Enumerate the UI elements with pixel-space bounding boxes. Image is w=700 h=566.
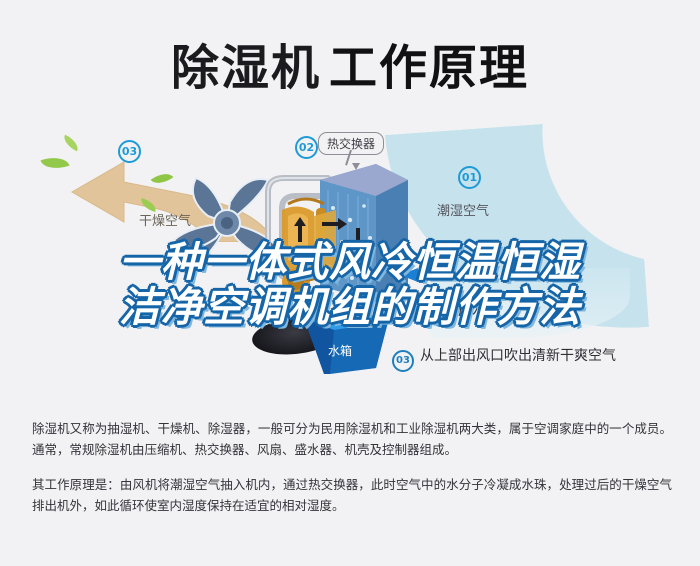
article-paragraph-1: 除湿机又称为抽湿机、干燥机、除湿器，一般可分为民用除湿机和工业除湿机两大类，属于…	[32, 418, 672, 460]
title-segment-principle: 工作原理	[329, 28, 529, 98]
article-body: 除湿机又称为抽湿机、干燥机、除湿器，一般可分为民用除湿机和工业除湿机两大类，属于…	[32, 418, 672, 516]
callout-tip-icon	[352, 163, 360, 170]
article-paragraph-2: 其工作原理是：由风机将潮湿空气抽入机内，通过热交换器，此时空气中的水分子冷凝成水…	[32, 474, 672, 516]
step-number-03: 03	[392, 350, 414, 372]
step-text-02: 成水珠	[458, 303, 500, 319]
page-root: 除湿机 工作原理	[0, 0, 700, 566]
step-number-02: 02	[430, 305, 452, 327]
diagram-badge-01: 01	[458, 166, 481, 189]
page-title: 除湿机 工作原理	[0, 18, 700, 108]
step-text-03: 从上部出风口吹出清新干爽空气	[420, 348, 616, 364]
step-caption-03: 03从上部出风口吹出清新干爽空气	[392, 345, 616, 372]
diagram-badge-02: 02	[295, 136, 318, 159]
diagram-badge-03: 03	[118, 140, 141, 163]
step-caption-02: 02成水珠	[430, 300, 500, 327]
label-humid-air: 潮湿空气	[437, 200, 489, 219]
label-water-tank: 水箱	[328, 342, 352, 359]
leaf-icon	[61, 135, 82, 152]
label-dry-air: 干燥空气	[139, 210, 191, 229]
title-segment-product: 除湿机	[171, 28, 321, 98]
air-inflow-arrow-icon	[400, 268, 456, 282]
